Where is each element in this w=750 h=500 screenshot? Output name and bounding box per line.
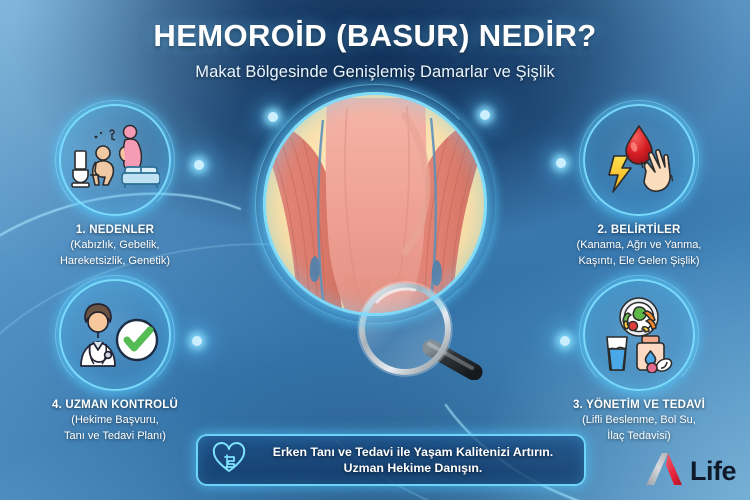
node-nedenler-detail-2: Hareketsizlik, Genetik) [20,254,210,268]
medicine-bottle-icon [637,336,664,370]
node-uzman-kontrolu-detail-2: Tanı ve Tedavi Planı) [20,429,210,443]
node-yonetim-tedavi-title: 3. YÖNETİM VE TEDAVİ [544,399,734,411]
node-nedenler-detail-1: (Kabızlık, Gebelik, [20,238,210,252]
toilet-person-icon [72,146,113,187]
anatomy-glow-ring [263,92,487,316]
node-uzman-kontrolu-title: 4. UZMAN KONTROLÜ [20,399,210,411]
node-yonetim-tedavi-detail-1: (Lifli Beslenme, Bol Su, [544,413,734,427]
doctor-icon [81,304,115,366]
node-uzman-kontrolu-detail-1: (Hekime Başvuru, [20,413,210,427]
node-yonetim-tedavi[interactable]: 3. YÖNETİM VE TEDAVİ (Lifli Beslenme, Bo… [544,279,734,443]
page-subtitle: Makat Bölgesinde Genişlemiş Damarlar ve … [0,63,750,82]
node-uzman-kontrolu-label: 4. UZMAN KONTROLÜ (Hekime Başvuru, Tanı … [20,399,210,443]
node-nedenler-title: 1. NEDENLER [20,224,210,236]
discomfort-marks-icon [95,130,115,140]
call-to-action-banner[interactable]: Erken Tanı ve Tedavi ile Yaşam Kaliteniz… [196,434,586,486]
node-nedenler-label: 1. NEDENLER (Kabızlık, Gebelik, Harekets… [20,224,210,268]
sofa-icon [122,167,160,188]
page-title: HEMOROİD (BASUR) NEDİR? [0,18,750,54]
green-check-icon [117,320,157,360]
node-belirtiler-circle [583,104,695,216]
node-uzman-kontrolu-circle [59,279,171,391]
banner-line-1: Erken Tanı ve Tedavi ile Yaşam Kaliteniz… [256,444,570,460]
node-nedenler-icons [70,123,160,197]
banner-line-2: Uzman Hekime Danışın. [256,460,570,476]
node-belirtiler-detail-2: Kaşıntı, Ele Gelen Şişlik) [544,254,734,268]
node-belirtiler-title: 2. BELİRTİLER [544,224,734,236]
node-yonetim-tedavi-icons [595,297,683,373]
brand-logo-text: Life [690,456,736,487]
water-glass-icon [607,337,627,370]
lightning-bolt-icon [609,156,631,192]
node-belirtiler-detail-1: (Kanama, Ağrı ve Yanma, [544,238,734,252]
pregnant-woman-icon [120,126,142,182]
header: HEMOROİD (BASUR) NEDİR? Makat Bölgesinde… [0,18,750,82]
a-life-logo-mark [646,451,692,492]
itching-hand-icon [641,150,673,191]
node-belirtiler-icons [594,123,684,197]
node-uzman-kontrolu[interactable]: 4. UZMAN KONTROLÜ (Hekime Başvuru, Tanı … [20,279,210,443]
infographic-canvas: HEMOROİD (BASUR) NEDİR? Makat Bölgesinde… [0,0,750,500]
heart-intestine-icon [212,442,246,479]
pills-icon [647,356,674,373]
node-uzman-kontrolu-icons [69,300,161,370]
brand-logo[interactable]: Life [646,451,736,492]
node-belirtiler[interactable]: 2. BELİRTİLER (Kanama, Ağrı ve Yanma, Ka… [544,104,734,268]
salad-plate-icon [620,298,658,336]
banner-text: Erken Tanı ve Tedavi ile Yaşam Kaliteniz… [256,444,570,476]
anatomy-illustration [255,80,495,380]
stethoscope-icon [89,345,111,362]
blood-drop-icon [626,126,652,164]
node-belirtiler-label: 2. BELİRTİLER (Kanama, Ağrı ve Yanma, Ka… [544,224,734,268]
node-nedenler-circle [59,104,171,216]
node-yonetim-tedavi-circle [583,279,695,391]
node-nedenler[interactable]: 1. NEDENLER (Kabızlık, Gebelik, Harekets… [20,104,210,268]
